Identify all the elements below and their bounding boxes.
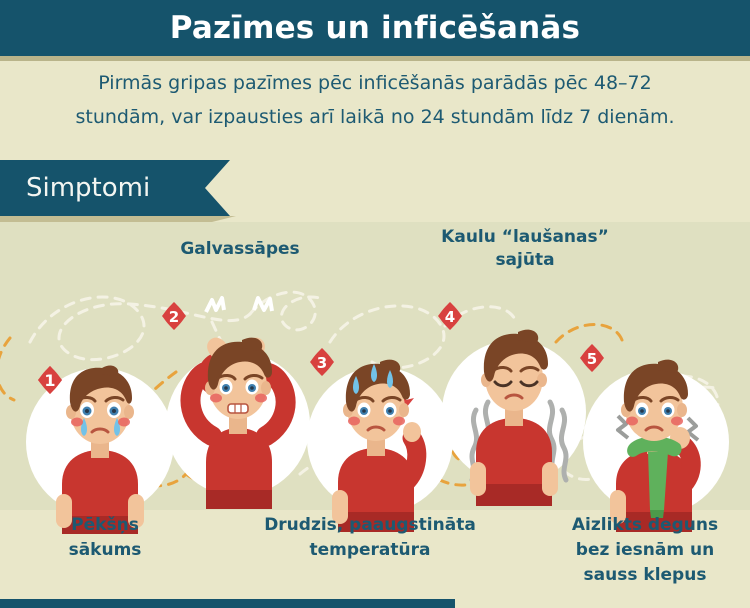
svg-text:3: 3	[317, 354, 327, 372]
simptomi-ribbon: Simptomi	[0, 160, 260, 222]
pain-zigzag-icon	[206, 298, 272, 312]
symptom-figure-5[interactable]: 5	[562, 332, 742, 532]
badge-2: 2	[162, 302, 186, 330]
svg-text:4: 4	[445, 308, 455, 326]
caption-nose-line-1: Aizlikts deguns	[545, 513, 745, 538]
intro-paragraph: Pirmās gripas pazīmes pēc inficēšanās pa…	[0, 66, 750, 134]
svg-text:2: 2	[169, 308, 179, 326]
caption-blocked-nose: Aizlikts deguns bez iesnām un sauss klep…	[545, 513, 745, 588]
ribbon-body: Simptomi	[0, 160, 230, 216]
header-bar: Pazīmes un inficēšanās	[0, 0, 750, 56]
header-shadow-strip	[0, 56, 750, 61]
label-bone-ache-line-1: Kaulu “laušanas”	[400, 226, 650, 249]
label-bone-ache: Kaulu “laušanas” sajūta	[400, 226, 650, 272]
label-headache: Galvassāpes	[140, 238, 340, 261]
svg-text:5: 5	[587, 350, 597, 368]
caption-fever-line-2: temperatūra	[225, 538, 515, 563]
caption-nose-line-3: sauss klepus	[545, 563, 745, 588]
ribbon-label: Simptomi	[0, 173, 150, 203]
infographic-page: Pazīmes un inficēšanās Pirmās gripas paz…	[0, 0, 750, 608]
hand-holding-thermometer	[403, 422, 421, 442]
caption-fever-line-1: Drudzis, paaugstināta	[225, 513, 515, 538]
badge-4: 4	[438, 302, 462, 330]
caption-sudden-line-2: sākums	[10, 538, 200, 563]
label-bone-ache-line-2: sajūta	[400, 249, 650, 272]
bottom-rule	[0, 599, 455, 608]
caption-sudden-line-1: Pēkšņs	[10, 513, 200, 538]
caption-fever: Drudzis, paaugstināta temperatūra	[225, 513, 515, 563]
svg-text:1: 1	[44, 371, 55, 390]
caption-sudden-onset: Pēkšņs sākums	[10, 513, 200, 563]
intro-line-1: Pirmās gripas pazīmes pēc inficēšanās pa…	[60, 66, 690, 100]
intro-line-2: stundām, var izpausties arī laikā no 24 …	[60, 100, 690, 134]
caption-nose-line-2: bez iesnām un	[545, 538, 745, 563]
page-title: Pazīmes un inficēšanās	[170, 10, 580, 46]
badge-5: 5	[580, 344, 604, 372]
badge-3: 3	[310, 348, 334, 376]
